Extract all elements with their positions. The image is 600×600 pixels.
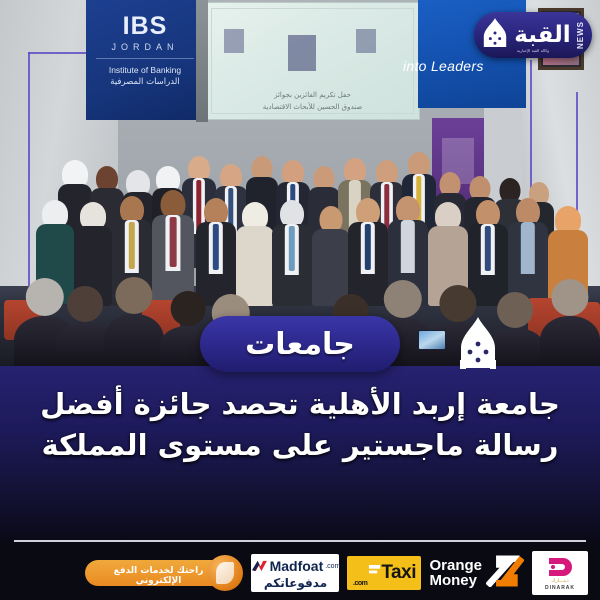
group-person [312,206,350,306]
ibs-banner: IBS JORDAN Institute of Banking الدراسات… [86,0,204,120]
group-person [348,198,388,306]
taxi-latin: Taxi [381,562,416,584]
headline-text: جامعة إربد الأهلية تحصد جائزة أفضل رسالة… [14,384,586,466]
ibs-logo-text: IBS [92,14,198,39]
group-person [468,200,508,306]
madfoat-suffix: .com [325,563,340,570]
ibs-english-name: Institute of Banking [92,65,198,76]
category-badge-label: جامعات [245,327,355,362]
screen-logo-right [356,29,376,53]
madfoat-arabic: مدفوعاتكم [264,576,327,590]
screen-logo-center [288,35,316,71]
group-person [196,198,236,306]
ibs-arabic-name: الدراسات المصرفية [92,77,198,87]
screen-mount-bar [196,0,208,122]
group-person [508,198,548,306]
logo-news-label: NEWS [576,21,585,49]
group-person [236,202,274,306]
screen-logo-left [224,29,244,53]
sponsor-divider [14,540,586,542]
madfoat-top-row: Madfoat .com [251,557,341,576]
sponsor-bar: دينـــارك DINARAK Orange Money Taxi [0,546,600,600]
orange-money-text: Orange Money [429,558,482,589]
sponsor-orange-money[interactable]: Orange Money [429,555,524,591]
audience-person [104,314,164,366]
headline-panel: جامعة إربد الأهلية تحصد جائزة أفضل رسالة… [0,366,600,540]
logo-tagline: وكالة القبة الإخبارية [474,48,592,53]
logo-arabic-name: القبة [514,24,570,47]
epayment-text: راحتك لخدمات الدفع الإلكتروني [99,566,217,586]
sponsor-epayment-banner[interactable]: راحتك لخدمات الدفع الإلكتروني [75,553,243,593]
accent-line [28,52,30,320]
screen-title-line1: حفل تكريم الفائزين بجوائز [206,91,419,99]
dinarak-arabic: دينـــارك [551,578,569,584]
orange-line2: Money [429,572,477,589]
epayment-orb-icon [207,555,243,591]
taxi-suffix: .com [353,580,367,587]
audience-phone-screen [418,330,446,350]
dinarak-mark-icon [545,556,575,578]
leaders-banner-text: into Leaders [403,58,533,74]
orange-arrows-icon [486,555,524,591]
projection-screen: حفل تكريم الفائزين بجوائز صندوق الحسين ل… [205,2,420,120]
channel-logo[interactable]: NEWS القبة وكالة القبة الإخبارية [474,12,592,58]
ibs-divider [96,58,194,59]
taxi-flag-icon [367,564,381,583]
sponsor-dinarak[interactable]: دينـــارك DINARAK [532,551,588,595]
screen-title-line2: صندوق الحسين للأبحاث الاقتصادية [206,103,419,111]
madfoat-chevron-icon [251,557,268,576]
accent-line [28,52,90,54]
category-badge[interactable]: جامعات [200,316,400,372]
news-card: IBS JORDAN Institute of Banking الدراسات… [0,0,600,600]
group-person [272,200,312,306]
dinarak-latin: DINARAK [545,585,575,591]
group-person [152,190,194,306]
madfoat-latin: Madfoat [270,558,324,574]
sponsor-madfoat[interactable]: Madfoat .com مدفوعاتكم [251,554,339,592]
audience-person [540,316,600,366]
dome-icon [455,316,501,370]
sponsor-taxi[interactable]: Taxi .com [347,556,421,590]
ibs-country: JORDAN [92,42,198,52]
